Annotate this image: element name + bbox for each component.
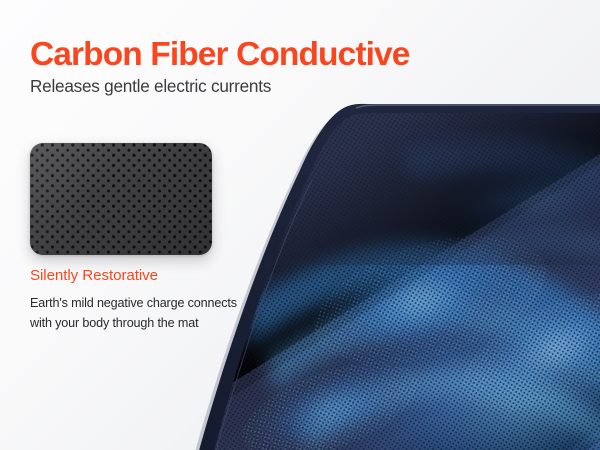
mat-rim (180, 95, 600, 450)
mat-perforation-texture (180, 95, 600, 450)
page-title: Carbon Fiber Conductive (30, 37, 409, 72)
material-swatch (30, 143, 212, 255)
feature-body-line-2: with your body through the mat (30, 313, 280, 333)
mat-surface (180, 95, 600, 450)
feature-body-line-1: Earth's mild negative charge connects (30, 293, 280, 313)
energy-waves (250, 139, 600, 450)
feature-body: Earth's mild negative charge connects wi… (30, 293, 280, 334)
mat-top-highlight (356, 105, 600, 108)
subtitle: Releases gentle electric currents (30, 76, 271, 97)
product-feature-card: Carbon Fiber Conductive Releases gentle … (0, 0, 600, 450)
feature-heading: Silently Restorative (30, 267, 158, 284)
mat-drop-shadow (191, 109, 600, 450)
swatch-sheen (30, 143, 212, 255)
